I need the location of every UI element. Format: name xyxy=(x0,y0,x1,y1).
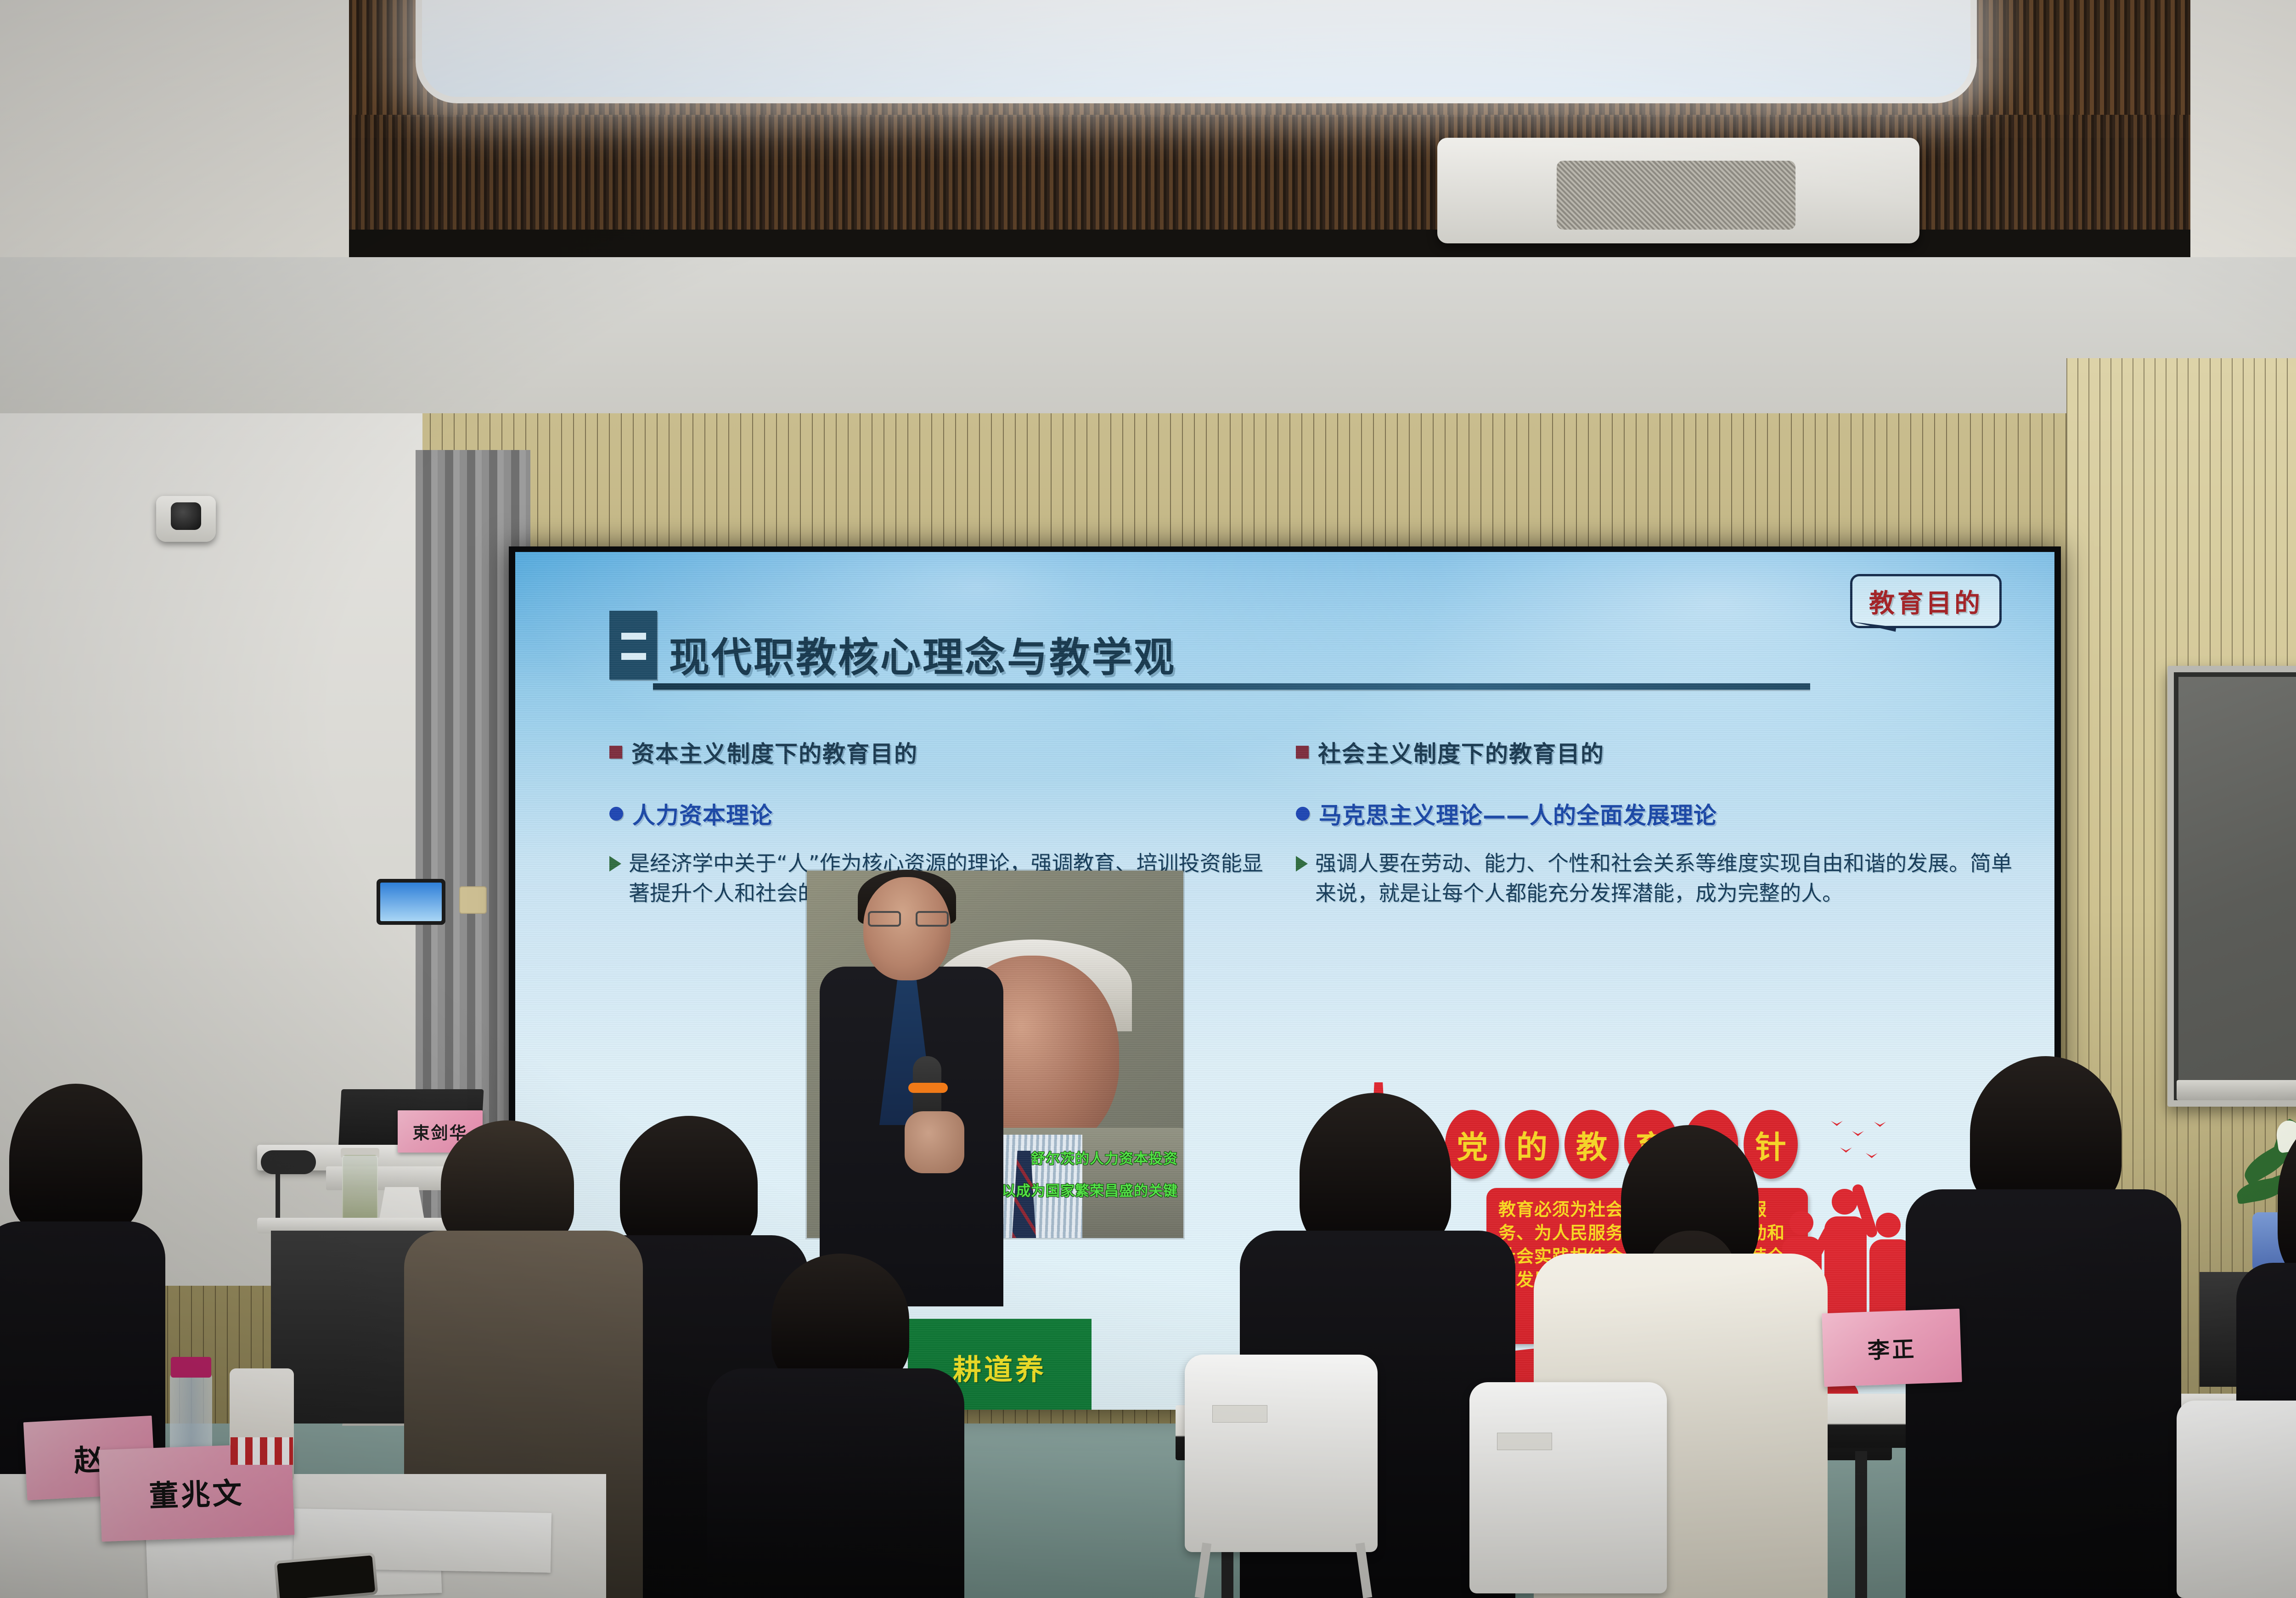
chair-asset-tag xyxy=(1212,1405,1267,1423)
slide-right-column: 社会主义制度下的教育目的 马克思主义理论——人的全面发展理论 强调人要在劳动、能… xyxy=(1296,736,2012,909)
dot-bullet-icon xyxy=(1296,807,1310,821)
right-heading-text: 社会主义制度下的教育目的 xyxy=(1318,736,1604,769)
lecture-hall-scene: 束剑华 现代职教核心理念与教学观 教育目的 xyxy=(0,0,2296,1598)
name-card-dong-zhaowen-text: 董兆文 xyxy=(148,1469,245,1515)
chair-1[interactable] xyxy=(1185,1355,1378,1552)
arrow-bullet-icon xyxy=(609,856,621,872)
tea-jar xyxy=(342,1155,378,1226)
ceiling-skylight-panel xyxy=(416,0,1977,103)
right-column-subheading: 马克思主义理论——人的全面发展理论 xyxy=(1296,797,2012,830)
whiteboard-control-bar[interactable]: HiteVision xyxy=(2177,1080,2296,1100)
control-panel-screen[interactable] xyxy=(380,883,442,921)
left-heading-text: 资本主义制度下的教育目的 xyxy=(631,736,918,769)
presenter-face xyxy=(863,877,951,980)
dot-bullet-icon xyxy=(609,807,623,821)
name-card-li-zheng-text: 李正 xyxy=(1867,1331,1917,1365)
left-column-subheading: 人力资本理论 xyxy=(609,797,1280,830)
presenter xyxy=(794,863,1010,1304)
right-column-heading: 社会主义制度下的教育目的 xyxy=(1296,736,2012,769)
camera-lens-icon xyxy=(171,502,201,530)
tumbler-decorative-band xyxy=(231,1437,293,1465)
slide-title: 现代职教核心理念与教学观 xyxy=(669,638,1176,680)
section-number-badge xyxy=(609,611,657,680)
bubble-label: 教育目的 xyxy=(1869,583,1983,620)
whiteboard-screen[interactable] xyxy=(2174,672,2296,1100)
left-column-heading: 资本主义制度下的教育目的 xyxy=(609,736,1280,769)
slide-title-row: 现代职教核心理念与教学观 xyxy=(609,611,1176,680)
title-underline-rule xyxy=(653,683,1810,690)
wall-power-socket[interactable] xyxy=(459,886,487,914)
chair-3[interactable] xyxy=(2177,1401,2296,1598)
water-bottle-cap xyxy=(171,1357,211,1378)
table-microphone-head xyxy=(261,1150,316,1174)
audience-member-2 xyxy=(707,1254,964,1598)
right-column-body: 强调人要在劳动、能力、个性和社会关系等维度实现自由和谐的发展。简单来说，就是让每… xyxy=(1296,849,2012,909)
right-body-text: 强调人要在劳动、能力、个性和社会关系等维度实现自由和谐的发展。简单来说，就是让每… xyxy=(1315,849,2012,909)
chair-asset-tag xyxy=(1497,1433,1552,1450)
table-microphone-stand xyxy=(276,1162,280,1221)
left-subheading-text: 人力资本理论 xyxy=(632,797,773,830)
presenter-hand xyxy=(905,1111,964,1173)
arrow-bullet-icon xyxy=(1296,856,1308,872)
square-bullet-icon xyxy=(1296,746,1309,759)
chair-2[interactable] xyxy=(1469,1382,1667,1593)
interactive-whiteboard[interactable] xyxy=(2167,666,2296,1107)
square-bullet-icon xyxy=(609,746,622,759)
microphone-orange-band xyxy=(908,1083,948,1093)
green-banner-text: 耕道养 xyxy=(953,1346,1047,1388)
wall-control-panel[interactable] xyxy=(377,879,445,925)
right-subheading-text: 马克思主义理论——人的全面发展理论 xyxy=(1319,797,1717,830)
desk-leg xyxy=(1855,1451,1867,1598)
education-purpose-bubble: 教育目的 xyxy=(1850,574,2002,628)
air-conditioner-grill-icon xyxy=(1557,161,1795,230)
name-card-li-zheng: 李正 xyxy=(1822,1309,1962,1387)
smartphone-screen[interactable] xyxy=(277,1555,375,1598)
presenter-glasses-icon xyxy=(868,911,949,927)
